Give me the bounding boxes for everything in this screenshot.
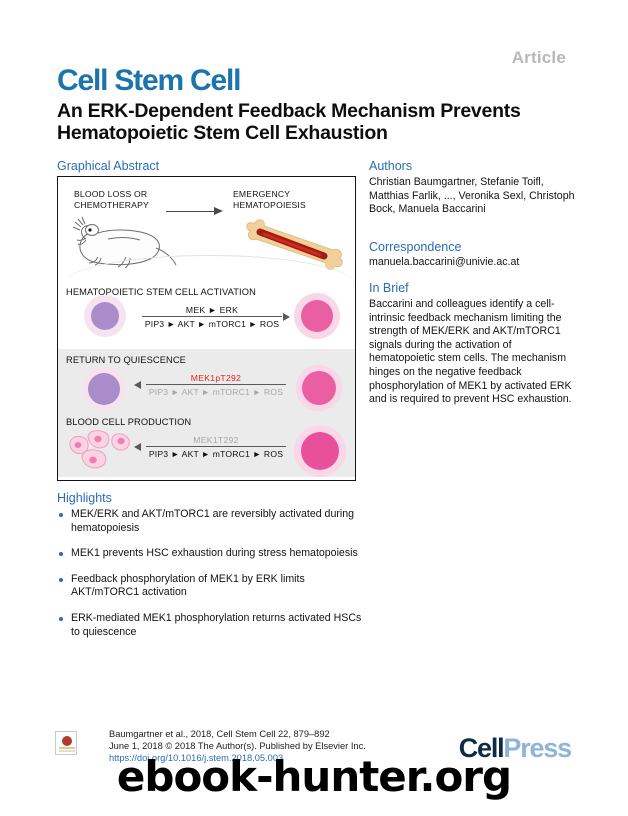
- correspondence-email[interactable]: manuela.baccarini@univie.ac.at: [369, 256, 576, 270]
- watermark-overlay: ebook-hunter.org: [0, 752, 628, 801]
- bullet-icon: [59, 578, 63, 582]
- pathway-quiescence: MEK1pT292 PIP3 ► AKT ► mTORC1 ► ROS: [146, 373, 286, 397]
- label-emergency-hematopoiesis: EMERGENCY HEMATOPOIESIS: [233, 189, 306, 210]
- authors-heading: Authors: [369, 159, 412, 173]
- list-item: Feedback phosphorylation of MEK1 by ERK …: [57, 573, 367, 600]
- list-item: MEK/ERK and AKT/mTORC1 are reversibly ac…: [57, 508, 367, 535]
- hsc-quiescent-cell-row2: [82, 367, 126, 411]
- in-brief-text: Baccarini and colleagues identify a cell…: [369, 298, 576, 407]
- row-title-production: BLOOD CELL PRODUCTION: [66, 417, 191, 427]
- highlights-heading: Highlights: [57, 491, 112, 505]
- citation-line-1: Baumgartner et al., 2018, Cell Stem Cell…: [109, 728, 366, 740]
- blood-cells-cluster: [66, 429, 150, 477]
- hsc-activated-cell-row2: [296, 365, 342, 411]
- hsc-activated-cell-row3: [294, 425, 346, 477]
- citation-line-2: June 1, 2018 © 2018 The Author(s). Publi…: [109, 740, 366, 752]
- pathway-activation: MEK ► ERK PIP3 ► AKT ► mTORC1 ► ROS: [142, 305, 282, 329]
- pathway-production: MEK1T292 PIP3 ► AKT ► mTORC1 ► ROS: [146, 435, 286, 459]
- correspondence-heading: Correspondence: [369, 240, 461, 254]
- pathway-bottom-production: PIP3 ► AKT ► mTORC1 ► ROS: [146, 449, 286, 459]
- pathway-top-activation: MEK ► ERK: [142, 305, 282, 315]
- highlight-text: ERK-mediated MEK1 phosphorylation return…: [71, 612, 361, 638]
- page-title: An ERK-Dependent Feedback Mechanism Prev…: [57, 100, 577, 144]
- list-item: MEK1 prevents HSC exhaustion during stre…: [57, 547, 367, 561]
- bullet-icon: [59, 513, 63, 517]
- pathway-top-quiescence: MEK1pT292: [146, 373, 286, 383]
- pathway-bottom-quiescence: PIP3 ► AKT ► mTORC1 ► ROS: [146, 387, 286, 397]
- pathway-top-production: MEK1T292: [146, 435, 286, 445]
- hsc-activated-cell-row1: [294, 293, 340, 339]
- highlight-text: Feedback phosphorylation of MEK1 by ERK …: [71, 573, 305, 599]
- article-type-label: Article: [512, 48, 566, 68]
- pathway-rule: [146, 384, 286, 385]
- pathway-bottom-activation: PIP3 ► AKT ► mTORC1 ► ROS: [142, 319, 282, 329]
- label-blood-loss: BLOOD LOSS OR CHEMOTHERAPY: [74, 189, 149, 210]
- graphical-abstract-heading: Graphical Abstract: [57, 159, 159, 173]
- pathway-rule: [146, 446, 286, 447]
- graphical-abstract-figure: BLOOD LOSS OR CHEMOTHERAPY EMERGENCY HEM…: [57, 176, 356, 481]
- list-item: ERK-mediated MEK1 phosphorylation return…: [57, 612, 367, 639]
- arrow-left-production-icon: [134, 443, 141, 451]
- row-title-activation: HEMATOPOIETIC STEM CELL ACTIVATION: [66, 287, 256, 297]
- bullet-icon: [59, 552, 63, 556]
- pathway-rule: [142, 316, 282, 317]
- authors-list: Christian Baumgartner, Stefanie Toifl, M…: [369, 176, 576, 217]
- paper-cover-page: Article Cell Stem Cell An ERK-Dependent …: [0, 0, 628, 816]
- row-title-quiescence: RETURN TO QUIESCENCE: [66, 355, 186, 365]
- bullet-icon: [59, 617, 63, 621]
- highlight-text: MEK1 prevents HSC exhaustion during stre…: [71, 547, 358, 559]
- hsc-quiescent-cell-row1: [84, 295, 126, 337]
- arrow-left-quiescence-icon: [134, 381, 141, 389]
- highlights-list: MEK/ERK and AKT/mTORC1 are reversibly ac…: [57, 508, 367, 651]
- arrow-right-activation-icon: [283, 313, 290, 321]
- journal-title: Cell Stem Cell: [57, 64, 240, 98]
- highlight-text: MEK/ERK and AKT/mTORC1 are reversibly ac…: [71, 508, 354, 534]
- in-brief-heading: In Brief: [369, 281, 409, 295]
